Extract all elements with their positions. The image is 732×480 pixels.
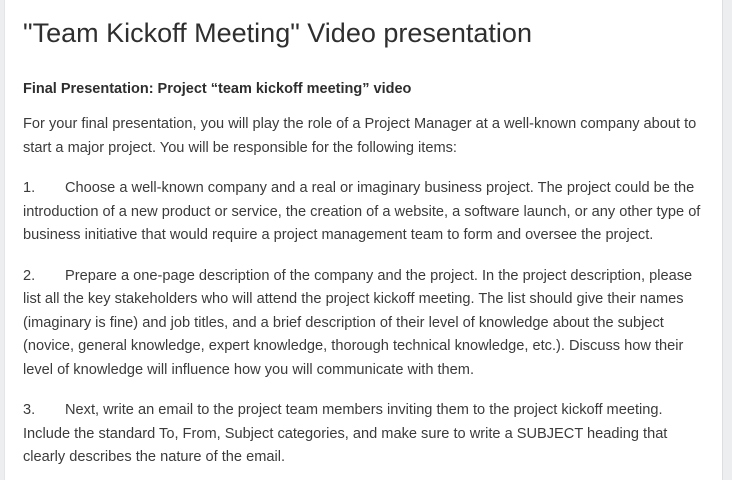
- intro-paragraph: For your final presentation, you will pl…: [23, 99, 704, 160]
- list-item: 2.Prepare a one-page description of the …: [23, 248, 704, 383]
- list-item: 4.Develop a 5- 10-slide PowerPoint prese…: [23, 470, 704, 480]
- section-subheading: Final Presentation: Project “team kickof…: [23, 50, 704, 99]
- document-page: "Team Kickoff Meeting" Video presentatio…: [4, 0, 723, 480]
- list-item: 3.Next, write an email to the project te…: [23, 382, 704, 470]
- list-item-number: 2.: [23, 265, 65, 289]
- list-item-text: Choose a well-known company and a real o…: [23, 180, 700, 243]
- list-item-number: 1.: [23, 177, 65, 201]
- list-item-number: 3.: [23, 399, 65, 423]
- document-content: "Team Kickoff Meeting" Video presentatio…: [5, 0, 722, 480]
- list-item-text: Next, write an email to the project team…: [23, 402, 667, 465]
- list-item-text: Prepare a one-page description of the co…: [23, 268, 692, 378]
- page-title: "Team Kickoff Meeting" Video presentatio…: [23, 0, 704, 50]
- list-item: 1.Choose a well-known company and a real…: [23, 160, 704, 248]
